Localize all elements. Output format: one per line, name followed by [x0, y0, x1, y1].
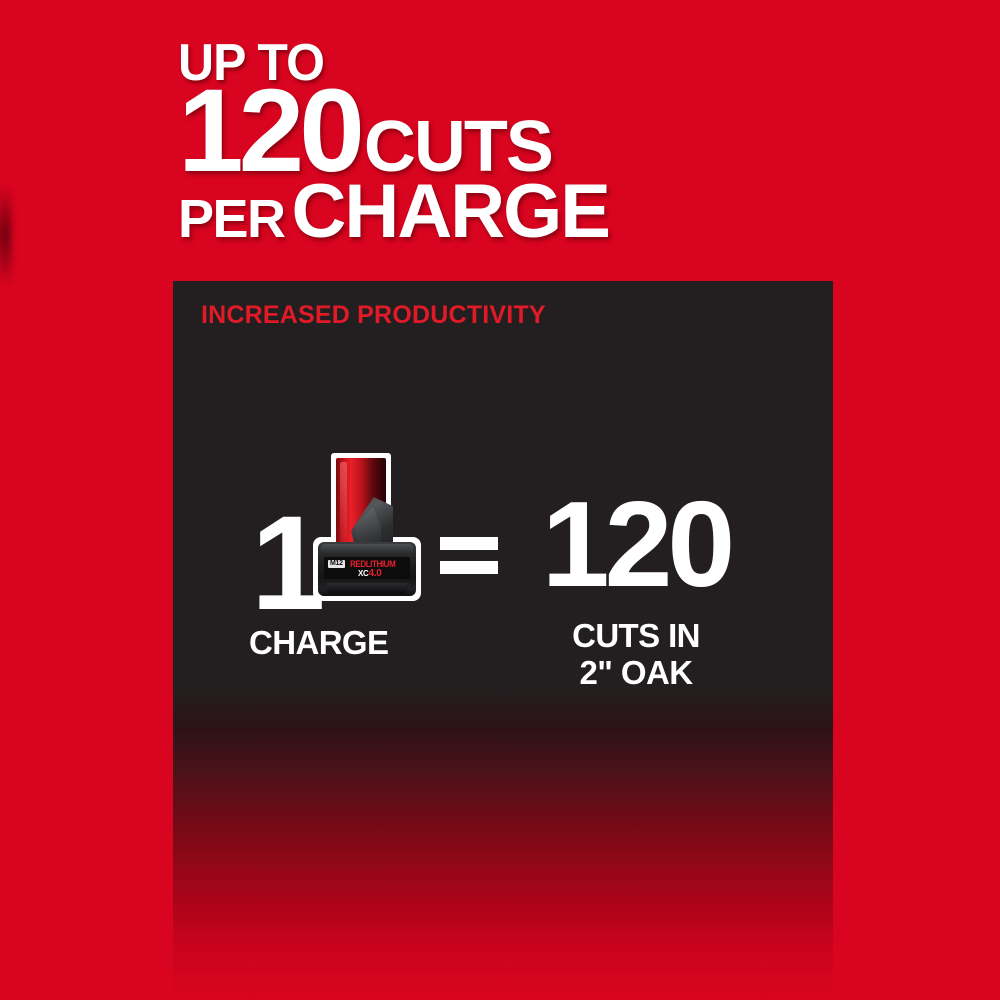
- headline-per: PER: [178, 189, 285, 249]
- cuts-label-line-2: 2" OAK: [525, 654, 747, 691]
- battery-highlight: [340, 462, 347, 548]
- headline-line-number-unit: 120CUTS: [178, 88, 838, 174]
- equals-icon: [440, 537, 498, 575]
- battery-platform-badge: M12: [328, 560, 345, 568]
- equation-left: 1 M12 REDLITHIUM XC4.0: [251, 461, 511, 781]
- panel-title: INCREASED PRODUCTIVITY: [201, 301, 546, 330]
- battery-capacity-text: XC4.0: [358, 569, 382, 578]
- headline-charge: CHARGE: [292, 169, 609, 254]
- equals-bar-bottom: [440, 561, 498, 574]
- battery-foot: [327, 583, 407, 594]
- equation-graphic: 1 M12 REDLITHIUM XC4.0: [173, 461, 833, 781]
- battery-capacity-value: 4.0: [369, 568, 382, 579]
- edge-shadow-artifact: [0, 185, 12, 285]
- battery-housing-top: [321, 544, 413, 553]
- page-title: UP TO 120CUTS PERCHARGE: [178, 36, 838, 248]
- cuts-quantity: 120: [525, 483, 747, 605]
- cuts-label: CUTS IN 2" OAK: [525, 617, 747, 691]
- battery-label: M12 REDLITHIUM XC4.0: [324, 557, 410, 579]
- charge-label: CHARGE: [249, 625, 449, 661]
- headline-line-up-to: UP TO: [178, 36, 812, 90]
- feature-panel: INCREASED PRODUCTIVITY 1 M12 REDLITHIU: [173, 281, 833, 1000]
- cuts-label-line-1: CUTS IN: [525, 617, 747, 654]
- equation-right: 120 CUTS IN 2" OAK: [525, 461, 805, 781]
- equals-bar-top: [440, 537, 498, 550]
- promo-poster: UP TO 120CUTS PERCHARGE INCREASED PRODUC…: [0, 0, 1000, 1000]
- battery-image: M12 REDLITHIUM XC4.0: [307, 451, 427, 611]
- battery-capacity-prefix: XC: [358, 569, 369, 578]
- headline-line-per-charge: PERCHARGE: [178, 176, 838, 248]
